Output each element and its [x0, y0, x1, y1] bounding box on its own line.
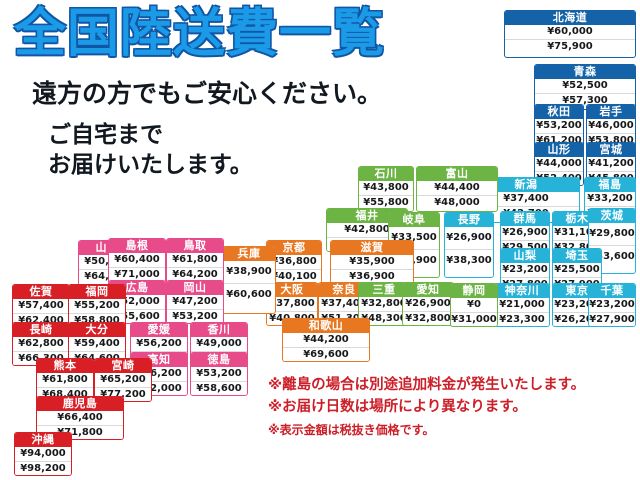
footnote-remote-island: ※離島の場合は別途追加料金が発生いたします。 — [268, 374, 640, 396]
price-standard: ¥29,800 — [589, 223, 635, 245]
subtitle-reassurance: 遠方の方でもご安心ください。 — [32, 74, 484, 110]
price-premium: ¥98,200 — [15, 461, 71, 476]
price-standard: ¥41,200 — [587, 157, 635, 171]
prefecture-name: 石川 — [359, 167, 413, 181]
price-box-沖縄: 沖縄¥94,000¥98,200 — [14, 432, 72, 476]
price-standard: ¥61,800 — [37, 373, 93, 387]
price-box-岡山: 岡山¥47,200¥53,200 — [166, 280, 224, 324]
price-standard: ¥44,200 — [283, 333, 369, 347]
prefecture-name: 群馬 — [501, 212, 549, 226]
price-standard: ¥35,900 — [331, 255, 413, 269]
prefecture-name: 沖縄 — [15, 433, 71, 447]
price-standard: ¥25,500 — [553, 263, 601, 277]
price-standard: ¥49,000 — [191, 337, 247, 351]
price-standard: ¥33,200 — [585, 192, 635, 206]
shipping-fee-chart: 全国陸送費一覧 遠方の方でもご安心ください。 ご自宅まで お届けいたします。 北… — [0, 0, 640, 480]
price-box-徳島: 徳島¥53,200¥58,600 — [190, 352, 248, 396]
price-standard: ¥43,800 — [359, 181, 413, 195]
price-box-愛知: 愛知¥26,900¥32,800 — [402, 282, 454, 326]
prefecture-name: 長野 — [445, 213, 493, 227]
prefecture-name: 愛媛 — [131, 323, 187, 337]
prefecture-name: 鳥取 — [167, 239, 223, 253]
price-premium: ¥69,600 — [283, 347, 369, 362]
prefecture-name: 神奈川 — [495, 284, 549, 298]
prefecture-name: 愛知 — [403, 283, 453, 297]
price-box-鳥取: 鳥取¥61,800¥64,200 — [166, 238, 224, 284]
price-standard: ¥66,400 — [37, 411, 123, 425]
price-premium: ¥48,000 — [417, 195, 497, 210]
price-standard: ¥46,000 — [587, 119, 635, 133]
prefecture-name: 秋田 — [535, 105, 583, 119]
price-box-千葉: 千葉¥23,200¥27,900 — [588, 283, 636, 327]
prefecture-name: 青森 — [535, 65, 635, 79]
price-standard: ¥23,200 — [501, 263, 549, 277]
price-standard: ¥0 — [451, 298, 497, 312]
price-box-長野: 長野¥26,900¥38,300 — [444, 212, 494, 278]
prefecture-name: 大分 — [69, 323, 125, 337]
price-standard: ¥94,000 — [15, 447, 71, 461]
prefecture-name: 長崎 — [13, 323, 69, 337]
price-standard: ¥38,900 — [223, 261, 275, 283]
subtitle-delivery-line-1: ご自宅まで — [48, 120, 484, 150]
prefecture-name: 岐阜 — [389, 213, 439, 227]
prefecture-name: 埼玉 — [553, 249, 601, 263]
price-premium: ¥32,800 — [403, 311, 453, 326]
prefecture-name: 岡山 — [167, 281, 223, 295]
price-standard: ¥52,500 — [535, 79, 635, 93]
prefecture-name: 宮崎 — [95, 359, 151, 373]
price-standard: ¥60,000 — [505, 25, 635, 39]
prefecture-name: 和歌山 — [283, 319, 369, 333]
price-standard: ¥57,400 — [13, 299, 69, 313]
prefecture-name: 兵庫 — [223, 247, 275, 261]
price-standard: ¥59,400 — [69, 337, 125, 351]
price-box-北海道: 北海道¥60,000¥75,900 — [504, 10, 636, 58]
prefecture-name: 千葉 — [589, 284, 635, 298]
prefecture-name: 福島 — [585, 178, 635, 192]
price-standard: ¥23,200 — [589, 298, 635, 312]
footnote-tax-excluded: ※表示金額は税抜き価格です。 — [268, 421, 640, 440]
price-premium: ¥31,000 — [451, 312, 497, 327]
price-standard: ¥56,200 — [131, 337, 187, 351]
prefecture-name: 岩手 — [587, 105, 635, 119]
price-standard: ¥21,000 — [495, 298, 549, 312]
price-standard: ¥62,800 — [13, 337, 69, 351]
prefecture-name: 茨城 — [589, 209, 635, 223]
prefecture-name: 佐賀 — [13, 285, 69, 299]
price-box-静岡: 静岡¥0¥31,000 — [450, 283, 498, 327]
prefecture-name: 福岡 — [69, 285, 125, 299]
price-box-石川: 石川¥43,800¥55,800 — [358, 166, 414, 212]
price-premium: ¥23,300 — [495, 312, 549, 327]
headline-block: 全国陸送費一覧 遠方の方でもご安心ください。 ご自宅まで お届けいたします。 — [14, 8, 484, 181]
prefecture-name: 熊本 — [37, 359, 93, 373]
prefecture-name: 宮城 — [587, 143, 635, 157]
price-standard: ¥26,900 — [501, 226, 549, 240]
price-standard: ¥26,900 — [403, 297, 453, 311]
price-premium: ¥75,900 — [505, 39, 635, 54]
prefecture-name: 富山 — [417, 167, 497, 181]
prefecture-name: 静岡 — [451, 284, 497, 298]
price-premium: ¥38,300 — [445, 249, 493, 272]
price-box-神奈川: 神奈川¥21,000¥23,300 — [494, 283, 550, 327]
price-box-富山: 富山¥44,400¥48,000 — [416, 166, 498, 212]
footnotes: ※離島の場合は別途追加料金が発生いたします。 ※お届け日数は場所により異なります… — [268, 374, 640, 440]
page-title: 全国陸送費一覧 — [14, 8, 484, 60]
prefecture-name: 滋賀 — [331, 241, 413, 255]
prefecture-name: 北海道 — [505, 11, 635, 25]
price-premium: ¥58,600 — [191, 381, 247, 396]
prefecture-name: 山梨 — [501, 249, 549, 263]
prefecture-name: 徳島 — [191, 353, 247, 367]
price-standard: ¥65,200 — [95, 373, 151, 387]
prefecture-name: 香川 — [191, 323, 247, 337]
price-box-兵庫: 兵庫¥38,900¥60,600 — [222, 246, 276, 314]
price-box-和歌山: 和歌山¥44,200¥69,600 — [282, 318, 370, 362]
footnote-delivery-days: ※お届け日数は場所により異なります。 — [268, 396, 640, 418]
price-standard: ¥44,400 — [417, 181, 497, 195]
price-standard: ¥53,200 — [535, 119, 583, 133]
price-standard: ¥47,200 — [167, 295, 223, 309]
price-standard: ¥61,800 — [167, 253, 223, 267]
price-standard: ¥53,200 — [191, 367, 247, 381]
price-premium: ¥60,600 — [223, 283, 275, 306]
prefecture-name: 島根 — [109, 239, 165, 253]
price-standard: ¥44,000 — [535, 157, 583, 171]
price-standard: ¥26,900 — [445, 227, 493, 249]
price-premium: ¥27,900 — [589, 312, 635, 327]
price-standard: ¥55,200 — [69, 299, 125, 313]
prefecture-name: 鹿児島 — [37, 397, 123, 411]
price-standard: ¥60,400 — [109, 253, 165, 267]
price-box-滋賀: 滋賀¥35,900¥36,900 — [330, 240, 414, 284]
prefecture-name: 山形 — [535, 143, 583, 157]
price-box-島根: 島根¥60,400¥71,000 — [108, 238, 166, 284]
